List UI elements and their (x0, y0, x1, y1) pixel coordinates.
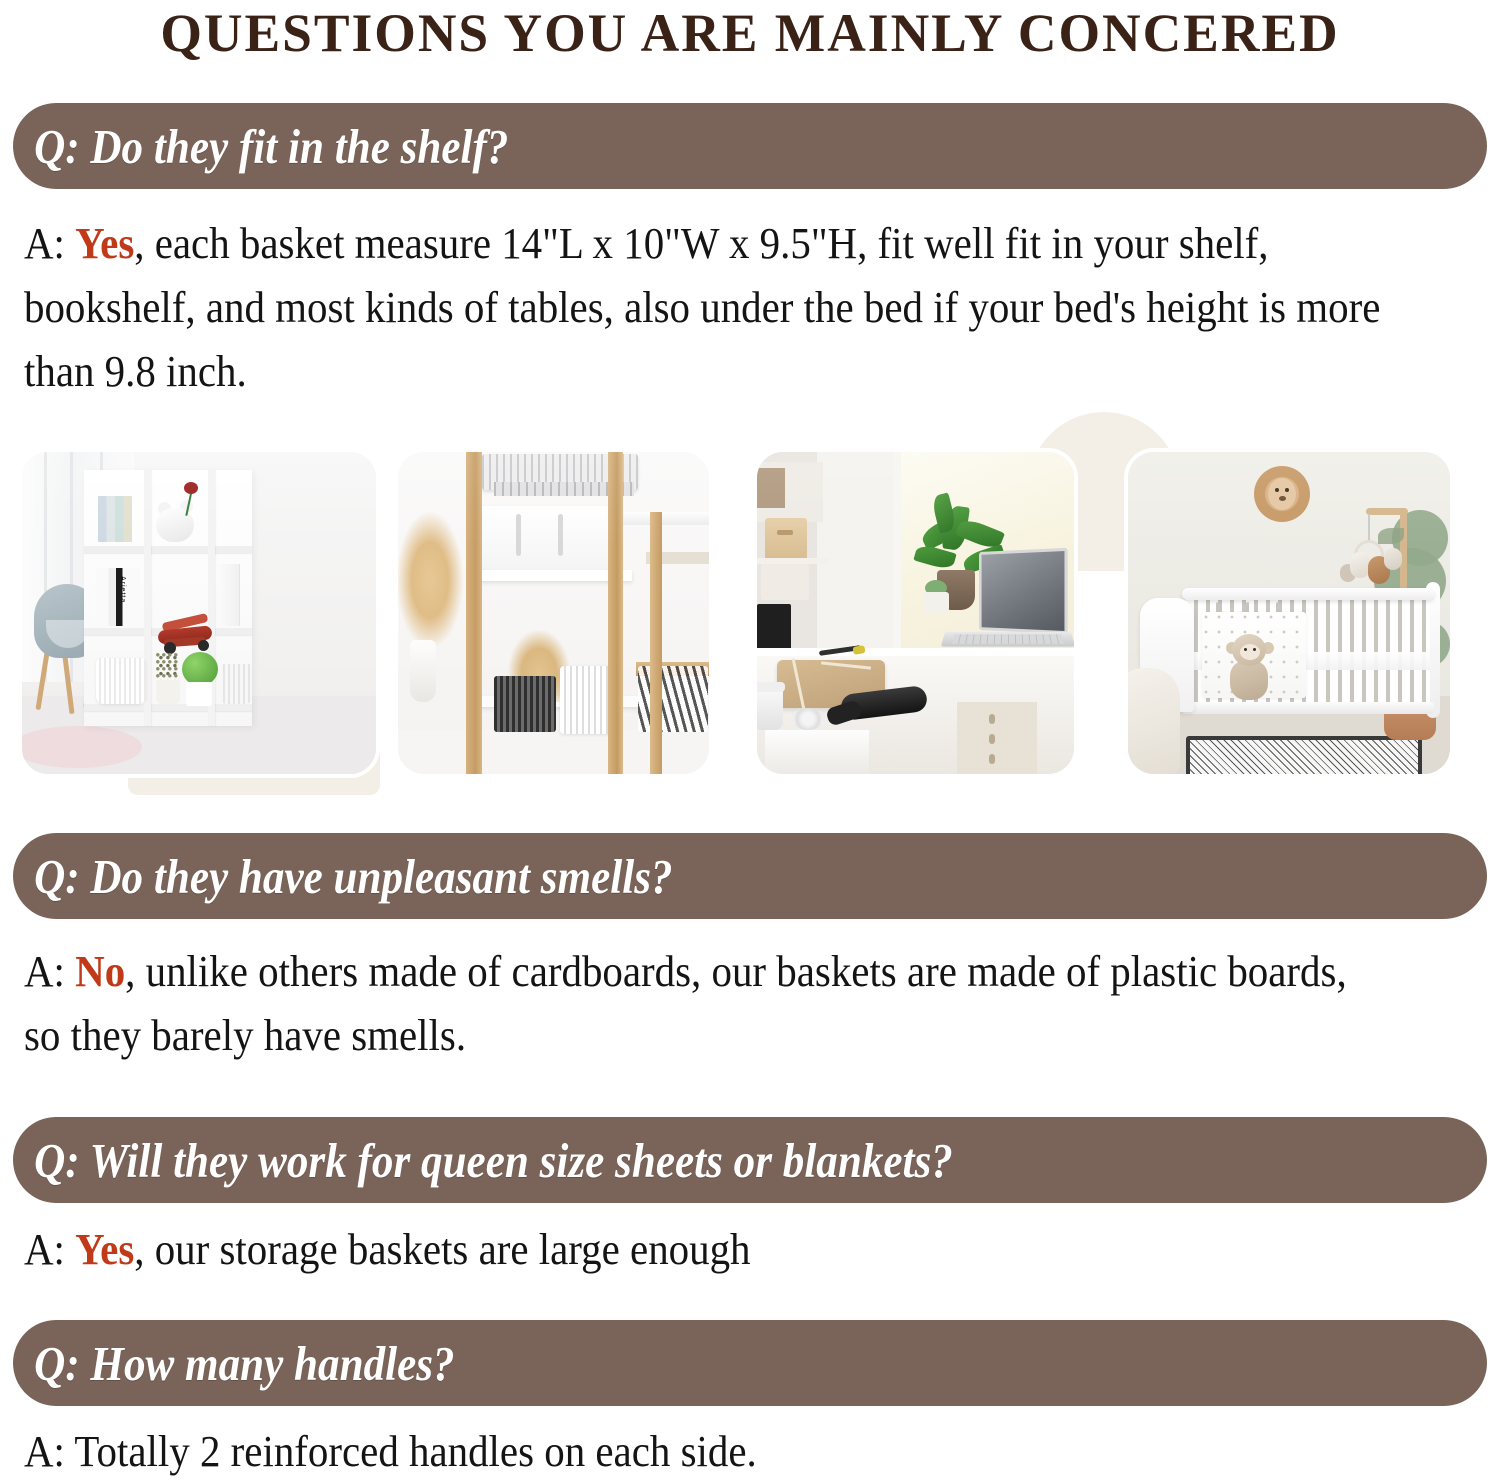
answer-2: A: No, unlike others made of cardboards,… (24, 940, 1382, 1068)
answer-1-rest: , each basket measure 14"L x 10"W x 9.5"… (24, 219, 1380, 396)
answer-4-rest: Totally 2 reinforced handles on each sid… (74, 1427, 756, 1476)
answer-3-rest: , our storage baskets are large enough (134, 1225, 750, 1274)
answer-1-prefix: A: (24, 219, 75, 268)
answer-2-rest: , unlike others made of cardboards, our … (24, 947, 1347, 1060)
photo-scene-3 (757, 452, 1074, 774)
photo-scene-1: Arietta (22, 452, 376, 774)
answer-3: A: Yes, our storage baskets are large en… (24, 1218, 1382, 1282)
answer-2-highlight: No (75, 947, 125, 996)
faq-page: QUESTIONS YOU ARE MAINLY CONCERED Q: Do … (0, 0, 1500, 1482)
photo-card-bamboo-shelf[interactable] (398, 452, 709, 774)
answer-4: A: Totally 2 reinforced handles on each … (24, 1420, 1382, 1482)
question-banner-3[interactable]: Q: Will they work for queen size sheets … (13, 1117, 1487, 1203)
photo-card-nursery[interactable] (1128, 452, 1450, 774)
page-title: QUESTIONS YOU ARE MAINLY CONCERED (8, 2, 1493, 64)
photo-card-desk-office[interactable] (757, 452, 1074, 774)
photo-scene-2 (398, 452, 709, 774)
answer-1-highlight: Yes (75, 219, 134, 268)
photo-scene-4 (1128, 452, 1450, 774)
book-spine-label: Arietta (116, 576, 126, 620)
question-banner-4[interactable]: Q: How many handles? (13, 1320, 1487, 1406)
question-text-1: Q: Do they fit in the shelf? (13, 118, 508, 175)
answer-4-prefix: A: (24, 1427, 74, 1476)
answer-2-prefix: A: (24, 947, 75, 996)
photo-row: Arietta (0, 452, 1500, 782)
question-text-3: Q: Will they work for queen size sheets … (13, 1132, 953, 1189)
photo-card-shelf-room[interactable]: Arietta (22, 452, 376, 774)
answer-3-prefix: A: (24, 1225, 75, 1274)
question-banner-2[interactable]: Q: Do they have unpleasant smells? (13, 833, 1487, 919)
question-banner-1[interactable]: Q: Do they fit in the shelf? (13, 103, 1487, 189)
question-text-2: Q: Do they have unpleasant smells? (13, 848, 673, 905)
question-text-4: Q: How many handles? (13, 1335, 455, 1392)
answer-1: A: Yes, each basket measure 14"L x 10"W … (24, 212, 1382, 404)
answer-3-highlight: Yes (75, 1225, 134, 1274)
